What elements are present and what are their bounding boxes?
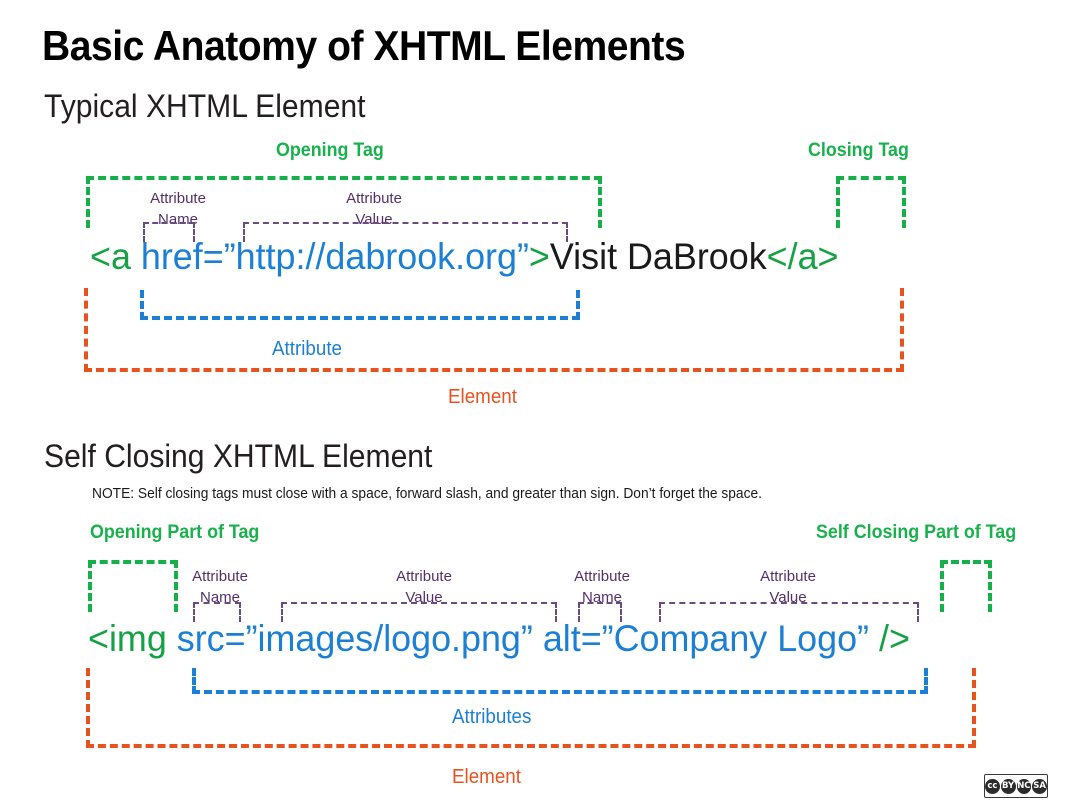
note-self-closing: NOTE: Self closing tags must close with …: [92, 486, 762, 502]
section-heading-typical: Typical XHTML Element: [44, 88, 366, 125]
code-token-green-0: <a: [90, 236, 141, 277]
label-element-2: Element: [452, 766, 521, 789]
bracket-self-closing-part: [940, 560, 992, 612]
bracket-opening-part: [88, 560, 178, 612]
code-token-blue-1: href=”http://dabrook.org”: [141, 236, 529, 277]
label-opening-tag: Opening Tag: [276, 140, 384, 162]
bracket-element: [84, 288, 904, 372]
label-attribute-value-src-text: Attribute Value: [396, 568, 452, 606]
code-token-green-2: >: [529, 236, 550, 277]
label-attribute-name-src-text: Attribute Name: [192, 568, 248, 606]
creative-commons-license-badge[interactable]: cc BY NC SA: [984, 774, 1048, 798]
code-token-black-3: Visit DaBrook: [550, 236, 767, 277]
label-attribute-name-alt-text: Attribute Name: [574, 568, 630, 606]
bracket-element-2: [86, 668, 976, 748]
bracket-closing-tag: [836, 176, 906, 228]
label-closing-tag: Closing Tag: [808, 140, 909, 162]
label-opening-part-of-tag: Opening Part of Tag: [90, 522, 259, 544]
cc-sa-icon: SA: [1032, 779, 1047, 794]
label-element: Element: [448, 386, 517, 409]
label-self-closing-part-of-tag: Self Closing Part of Tag: [816, 522, 1016, 544]
label-attribute-value-alt-text: Attribute Value: [760, 568, 816, 606]
section-heading-self-closing: Self Closing XHTML Element: [44, 438, 432, 475]
code-line-self-closing-element: <img src=”images/logo.png” alt=”Company …: [88, 620, 910, 657]
code-token-green-0: <img: [88, 618, 177, 659]
code-token-green-2: />: [869, 618, 910, 659]
cc-nc-icon: NC: [1017, 779, 1032, 794]
code-line-typical-element: <a href=”http://dabrook.org”>Visit DaBro…: [90, 238, 839, 275]
page-title: Basic Anatomy of XHTML Elements: [42, 22, 685, 70]
code-token-blue-1: src=”images/logo.png” alt=”Company Logo”: [177, 618, 869, 659]
code-token-green-4: </a>: [767, 236, 839, 277]
cc-by-icon: BY: [1001, 779, 1016, 794]
cc-icon: cc: [985, 779, 1000, 794]
